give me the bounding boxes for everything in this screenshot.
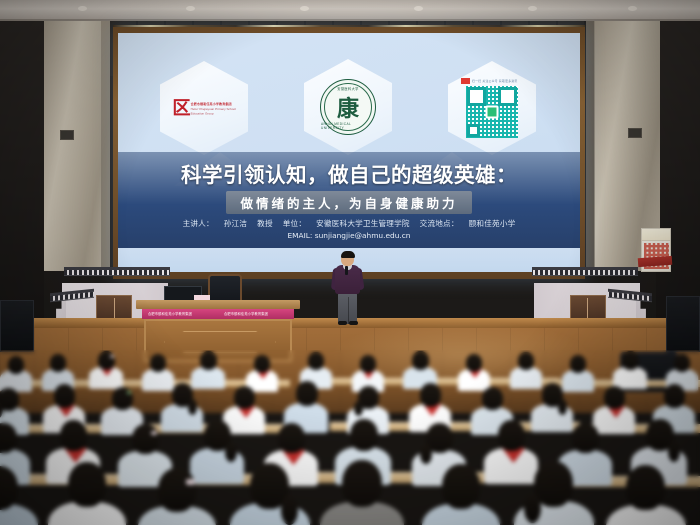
ceiling-downlight xyxy=(414,6,423,11)
wall-plate xyxy=(628,128,642,138)
lecture-hall-photo: 区 合肥市颐和佳苑小学教育集团 Hefei Yihejiayuan Primar… xyxy=(0,0,700,525)
speaker-person xyxy=(330,252,364,324)
school-logo-en-line2: Education Group xyxy=(191,111,236,115)
university-logo-badge: 安徽医科大学 康 ANHUI MEDICAL UNIVERSITY xyxy=(304,59,392,155)
wall-plate xyxy=(60,130,74,140)
slide-credits: 主讲人：孙江洁教授单位：安徽医科大学卫生管理学院交流地点：颐和佳苑小学 xyxy=(118,218,580,229)
speaker-shoe xyxy=(349,321,358,325)
wall-calendar-poster xyxy=(641,228,671,272)
slide-subtitle: 做情绪的主人，为自身健康助力 xyxy=(240,196,457,211)
wechat-qr-block: 扫一扫 关注公众号 获取更多资讯 xyxy=(461,78,523,138)
school-logo-badge: 区 合肥市颐和佳苑小学教育集团 Hefei Yihejiayuan Primar… xyxy=(160,61,248,155)
qr-header-text: 扫一扫 关注公众号 获取更多资讯 xyxy=(472,79,518,83)
lectern-banner-text: 合肥市颐和佳苑小学教育集团 xyxy=(148,311,192,316)
university-logo: 安徽医科大学 康 ANHUI MEDICAL UNIVERSITY xyxy=(320,79,376,135)
right-wall-panel xyxy=(656,21,700,321)
email-label: EMAIL: xyxy=(288,231,313,240)
stage-chair xyxy=(208,274,242,302)
school-logo-mark: 区 xyxy=(172,99,188,116)
microphone xyxy=(345,266,348,275)
floor-speaker-left xyxy=(0,300,34,352)
left-wall-panel xyxy=(0,21,44,321)
led-screen-frame: 区 合肥市颐和佳苑小学教育集团 Hefei Yihejiayuan Primar… xyxy=(113,27,585,279)
venue-label: 交流地点： xyxy=(420,219,459,228)
slide-title-band: 科学引领认知，做自己的超级英雄： 做情绪的主人，为自身健康助力 主讲人：孙江洁教… xyxy=(118,152,580,248)
lectern-banner-text: 合肥市颐和佳苑小学教育集团 xyxy=(224,311,268,316)
slide-subtitle-plate: 做情绪的主人，为自身健康助力 xyxy=(226,191,471,214)
ceiling-downlight xyxy=(628,6,637,11)
ceiling-downlight xyxy=(300,6,309,11)
presentation-slide: 区 合肥市颐和佳苑小学教育集团 Hefei Yihejiayuan Primar… xyxy=(118,33,580,272)
speaker-shoe xyxy=(338,321,347,325)
wechat-icon xyxy=(486,105,499,118)
red-flag-icon xyxy=(461,78,470,84)
email-address: sunjiangjie@ahmu.edu.cn xyxy=(315,231,411,240)
tiled-roof xyxy=(532,267,638,276)
ceiling-downlight xyxy=(78,6,87,11)
lectern-banner: 合肥市颐和佳苑小学教育集团 合肥市颐和佳苑小学教育集团 xyxy=(142,309,294,319)
speaker-hair xyxy=(341,251,355,258)
university-logo-cn-name: 安徽医科大学 xyxy=(337,86,359,91)
floor-speaker-right xyxy=(666,296,700,352)
school-logo-en-line1: Hefei Yihejiayuan Primary School xyxy=(191,107,236,111)
pilaster-edge xyxy=(101,21,110,271)
lectern-top xyxy=(136,300,300,309)
ceiling-downlight xyxy=(528,6,537,11)
wechat-qr-badge[interactable]: 扫一扫 关注公众号 获取更多资讯 xyxy=(448,61,536,155)
slide-title: 科学引领认知，做自己的超级英雄： xyxy=(118,158,580,188)
ceiling-downlight xyxy=(186,6,195,11)
slide-email-line: EMAIL: sunjiangjie@ahmu.edu.cn xyxy=(118,231,580,240)
speaker-label: 主讲人： xyxy=(183,219,214,228)
venue-name: 颐和佳苑小学 xyxy=(469,219,516,228)
speaker-rank: 教授 xyxy=(257,219,273,228)
pilaster-edge xyxy=(586,21,595,271)
university-logo-mark: 康 xyxy=(337,91,359,123)
tiled-roof xyxy=(64,267,170,276)
university-logo-en-name: ANHUI MEDICAL UNIVERSITY xyxy=(321,122,375,130)
badge-row: 区 合肥市颐和佳苑小学教育集团 Hefei Yihejiayuan Primar… xyxy=(118,55,580,141)
speaker-name: 孙江洁 xyxy=(224,219,247,228)
speaker-trousers xyxy=(338,293,357,324)
org-label: 单位： xyxy=(283,219,306,228)
school-logo: 区 合肥市颐和佳苑小学教育集团 Hefei Yihejiayuan Primar… xyxy=(172,99,236,116)
org-name: 安徽医科大学卫生管理学院 xyxy=(316,219,410,228)
student-audience: K R C K R xyxy=(0,350,700,525)
school-logo-cn-name: 合肥市颐和佳苑小学教育集团 xyxy=(191,101,236,106)
qr-code-image[interactable] xyxy=(466,86,518,138)
